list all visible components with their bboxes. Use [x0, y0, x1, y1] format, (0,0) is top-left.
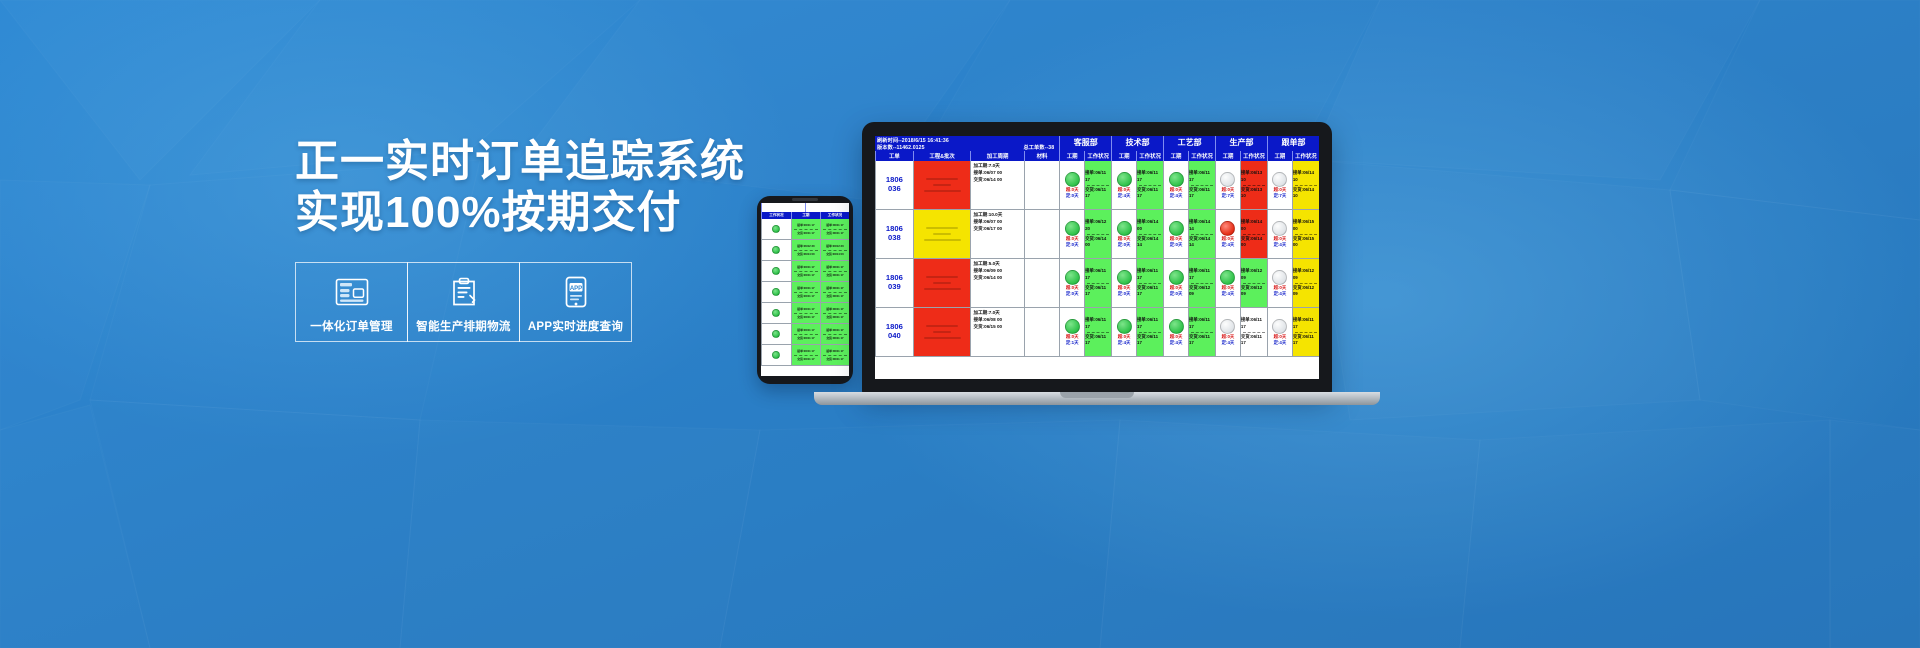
phone-table-row[interactable]: 接单:06/11 17交货:06/11 17接单:06/11 17交货:06/1… [761, 324, 849, 345]
svg-text:APP: APP [569, 286, 581, 292]
headline-line-1: 正一实时订单追踪系统 [295, 137, 745, 186]
date-separator [1243, 332, 1265, 333]
cell-dept-3-duration-status[interactable]: 超:0天定:7天 [1215, 161, 1240, 209]
phone-cell-dates-a[interactable]: 接单:06/11 17交货:06/11 17 [791, 303, 820, 323]
cell-material [1024, 308, 1060, 356]
dept-start-date: 接单:06/15 00 [1293, 219, 1319, 232]
phone-start-date: 接单:06/11 17 [797, 328, 814, 332]
feature-app-progress-query[interactable]: APP APP实时进度查询 [519, 262, 632, 342]
phone-row-list: 接单:06/11 17交货:06/11 17接单:06/11 17交货:06/1… [761, 219, 849, 366]
column-header-dept-0-1: 工作状况 [1084, 151, 1111, 161]
schedule-line: 接单:06/07 00 [973, 219, 1002, 226]
cell-material [1024, 210, 1060, 258]
dept-due-date: 交货:06/15 00 [1293, 236, 1319, 249]
table-row[interactable]: 1806040加工期:7.0天接单:06/08 00交货:06/15 00超:0… [875, 308, 1319, 357]
phone-start-date: 接单:06/12 20 [797, 244, 814, 248]
cell-processing-schedule: 加工期:7.0天接单:06/07 00交货:06/14 00 [970, 161, 1023, 209]
column-header-dept-1-1: 工作状况 [1136, 151, 1163, 161]
phone-cell-status[interactable] [761, 261, 791, 281]
cell-dept-4-work-status[interactable]: 接单:06/12 09交货:06/12 09 [1292, 259, 1319, 307]
status-indicator-grey [1272, 319, 1287, 334]
phone-start-date: 接单:06/11 17 [826, 223, 843, 227]
cell-order-number: 1806036 [875, 161, 913, 209]
cell-dept-0-work-status[interactable]: 接单:06/12 20交货:06/14 00 [1084, 210, 1111, 258]
dashboard-header: 刷新时间--2018/6/15 16:41:36 版本数--11462.0125… [875, 136, 1319, 161]
phone-due-date: 交货:06/11 17 [797, 231, 814, 235]
phone-start-date: 接单:06/11 17 [797, 349, 814, 353]
date-separator [1295, 234, 1317, 235]
phone-earpiece [792, 198, 818, 201]
feature-label: APP实时进度查询 [528, 318, 623, 334]
phone-due-date: 交货:06/11 17 [797, 273, 814, 277]
phone-cell-status[interactable] [761, 345, 791, 365]
dept-due-date: 交货:06/11 17 [1293, 334, 1319, 347]
date-separator [1295, 283, 1317, 284]
column-header-dept-3-0: 工期 [1215, 151, 1240, 161]
phone-table-row[interactable]: 接单:06/11 17交货:06/11 17接单:06/11 17交货:06/1… [761, 219, 849, 240]
dept-start-date: 接单:06/11 17 [1085, 170, 1111, 183]
column-header-dept-2-0: 工期 [1163, 151, 1188, 161]
phone-due-date: 交货:06/11 17 [826, 357, 843, 361]
date-separator [794, 334, 818, 335]
dept-start-date: 接单:06/13 10 [1241, 170, 1267, 183]
cell-order-number: 1806038 [875, 210, 913, 258]
phone-body: 客服部 技术部 工作状况 工期 工作状况 接单:06/11 17交货:06/11… [757, 196, 853, 384]
dept-due-date: 交货:06/12 09 [1293, 285, 1319, 298]
laptop-lid: 刷新时间--2018/6/15 16:41:36 版本数--11462.0125… [862, 122, 1332, 394]
date-separator [1191, 185, 1213, 186]
remaining-days-tag: 定:4天 [1170, 193, 1183, 199]
phone-screen[interactable]: 客服部 技术部 工作状况 工期 工作状况 接单:06/11 17交货:06/11… [761, 203, 849, 376]
date-separator [1295, 332, 1317, 333]
date-separator [1243, 185, 1265, 186]
dept-start-date: 接单:06/11 17 [1293, 317, 1319, 330]
remaining-days-tag: 定:4天 [1170, 340, 1183, 346]
phone-cell-dates-b[interactable]: 接单:06/11 17交货:06/11 17 [820, 324, 849, 344]
date-separator [1191, 234, 1213, 235]
column-header-row: 工单工程&批次加工周期材料工期工作状况工期工作状况工期工作状况工期工作状况工期工… [875, 151, 1319, 161]
phone-cell-dates-b[interactable]: 接单:06/11 17交货:06/11 17 [820, 261, 849, 281]
phone-cell-status[interactable] [761, 303, 791, 323]
phone-due-date: 交货:06/11 17 [797, 294, 814, 298]
phone-start-date: 接单:06/11 17 [826, 328, 843, 332]
remaining-days-tag: 定:0天 [1066, 291, 1079, 297]
phone-cell-dates-b[interactable]: 接单:06/11 17交货:06/11 17 [820, 345, 849, 365]
cell-project-batch [913, 161, 971, 209]
dept-start-date: 接单:06/11 17 [1137, 268, 1163, 281]
phone-col-0: 工作状况 [761, 212, 791, 219]
cell-dept-4-duration-status[interactable]: 超:0天定:4天 [1267, 259, 1292, 307]
table-row[interactable]: 1806038加工期:10.0天接单:06/07 00交货:06/17 00超:… [875, 210, 1319, 259]
status-indicator-green [1117, 319, 1132, 334]
remaining-days-tag: 定:0天 [1118, 242, 1131, 248]
cell-processing-schedule: 加工期:10.0天接单:06/07 00交货:06/17 00 [970, 210, 1023, 258]
dept-due-date: 交货:06/11 17 [1241, 334, 1267, 347]
phone-cell-dates-a[interactable]: 接单:06/11 17交货:06/11 17 [791, 219, 820, 239]
date-separator [823, 250, 847, 251]
feature-order-management[interactable]: 一体化订单管理 [295, 262, 408, 342]
cell-dept-2-work-status[interactable]: 接单:06/11 17交货:06/11 17 [1188, 161, 1215, 209]
column-header-base-0: 工单 [875, 151, 913, 161]
feature-list: 一体化订单管理 智能生产排期物流 APP [295, 262, 715, 342]
schedule-line: 交货:06/17 00 [973, 226, 1002, 233]
phone-due-date: 交货:06/11 17 [797, 315, 814, 319]
date-separator [1087, 234, 1109, 235]
cell-dept-0-work-status[interactable]: 接单:06/11 17交货:06/11 17 [1084, 308, 1111, 356]
dept-start-date: 接单:06/11 17 [1085, 317, 1111, 330]
phone-start-date: 接单:06/11 17 [797, 307, 814, 311]
dept-start-date: 接单:06/11 17 [1137, 170, 1163, 183]
remaining-days-tag: 定:4天 [1118, 193, 1131, 199]
column-header-dept-4-1: 工作状况 [1292, 151, 1319, 161]
phone-table-row[interactable]: 接单:06/11 17交货:06/11 17接单:06/11 17交货:06/1… [761, 345, 849, 366]
table-row[interactable]: 1806036加工期:7.0天接单:06/07 00交货:06/14 00超:0… [875, 161, 1319, 210]
order-row-list: 1806036加工期:7.0天接单:06/07 00交货:06/14 00超:0… [875, 161, 1319, 357]
dept-start-date: 接单:06/11 17 [1241, 317, 1267, 330]
phone-due-date: 交货:06/11 17 [826, 294, 843, 298]
cell-order-number: 1806040 [875, 308, 913, 356]
dept-start-date: 接单:06/12 20 [1085, 219, 1111, 232]
date-separator [794, 250, 818, 251]
phone-due-date: 交货:06/11 17 [797, 357, 814, 361]
schedule-line: 接单:06/08 00 [973, 317, 1002, 324]
phone-cell-dates-b[interactable]: 接单:06/12 20交货:06/14 00 [820, 240, 849, 260]
date-separator [1243, 234, 1265, 235]
dept-due-date: 交货:06/13 10 [1241, 187, 1267, 200]
schedule-line: 加工期:5.0天 [973, 261, 999, 268]
status-indicator-green [1065, 270, 1080, 285]
phone-mockup: 客服部 技术部 工作状况 工期 工作状况 接单:06/11 17交货:06/11… [757, 196, 853, 384]
cell-dept-3-duration-status[interactable]: 超:0天定:4天 [1215, 259, 1240, 307]
cell-dept-0-duration-status[interactable]: 超:0天定:1天 [1059, 308, 1084, 356]
dept-due-date: 交货:06/14 10 [1293, 187, 1319, 200]
remaining-days-tag: 定:0天 [1170, 242, 1183, 248]
remaining-days-tag: 定:4天 [1222, 242, 1235, 248]
cell-dept-0-work-status[interactable]: 接单:06/11 17交货:06/11 17 [1084, 259, 1111, 307]
phone-start-date: 接单:06/12 20 [826, 244, 843, 248]
phone-due-date: 交货:06/11 17 [826, 273, 843, 277]
phone-column-header: 工作状况 工期 工作状况 [761, 212, 849, 219]
column-header-dept-4-0: 工期 [1267, 151, 1292, 161]
schedule-line: 交货:06/14 00 [973, 275, 1002, 282]
date-separator [1139, 283, 1161, 284]
id-card-icon [335, 274, 369, 310]
cell-dept-3-duration-status[interactable]: 超:0天定:4天 [1215, 210, 1240, 258]
phone-cell-dates-b[interactable]: 接单:06/11 17交货:06/11 17 [820, 303, 849, 323]
dept-due-date: 交货:06/11 17 [1137, 285, 1163, 298]
remaining-days-tag: 定:4天 [1222, 291, 1235, 297]
phone-cell-dates-a[interactable]: 接单:06/11 17交货:06/11 17 [791, 324, 820, 344]
cell-dept-2-duration-status[interactable]: 超:0天定:4天 [1163, 308, 1188, 356]
phone-cell-dates-a[interactable]: 接单:06/11 17交货:06/11 17 [791, 282, 820, 302]
cell-dept-2-work-status[interactable]: 接单:06/11 17交货:06/11 17 [1188, 308, 1215, 356]
feature-label: 智能生产排期物流 [416, 318, 510, 334]
cell-dept-1-duration-status[interactable]: 超:0天定:4天 [1111, 308, 1136, 356]
cell-dept-2-duration-status[interactable]: 超:0天定:0天 [1163, 210, 1188, 258]
dept-due-date: 交货:06/11 17 [1137, 187, 1163, 200]
version-label: 版本数--11462.0125 [877, 144, 925, 151]
status-indicator-green [1117, 172, 1132, 187]
cell-dept-1-duration-status[interactable]: 超:0天定:4天 [1111, 161, 1136, 209]
cell-dept-3-work-status[interactable]: 接单:06/11 17交货:06/11 17 [1240, 308, 1267, 356]
dept-header-merchandising: 跟单部 [1267, 136, 1319, 151]
mobile-app-icon: APP [565, 274, 587, 310]
date-separator [794, 229, 818, 230]
cell-dept-3-work-status[interactable]: 接单:06/14 00交货:06/14 00 [1240, 210, 1267, 258]
cell-dept-4-work-status[interactable]: 接单:06/11 17交货:06/11 17 [1292, 308, 1319, 356]
status-indicator-green [772, 351, 780, 359]
phone-start-date: 接单:06/11 17 [797, 286, 814, 290]
column-header-dept-0-0: 工期 [1059, 151, 1084, 161]
laptop-mockup: 刷新时间--2018/6/15 16:41:36 版本数--11462.0125… [862, 122, 1332, 412]
cell-dept-1-work-status[interactable]: 接单:06/11 17交货:06/11 17 [1136, 308, 1163, 356]
cell-dept-0-duration-status[interactable]: 超:0天定:0天 [1059, 259, 1084, 307]
cell-dept-0-duration-status[interactable]: 超:0天定:0天 [1059, 161, 1084, 209]
remaining-days-tag: 定:4天 [1118, 340, 1131, 346]
laptop-screen[interactable]: 刷新时间--2018/6/15 16:41:36 版本数--11462.0125… [875, 136, 1319, 379]
cell-dept-3-work-status[interactable]: 接单:06/12 09交货:06/12 09 [1240, 259, 1267, 307]
date-separator [794, 271, 818, 272]
cell-dept-1-work-status[interactable]: 接单:06/11 17交货:06/11 17 [1136, 259, 1163, 307]
phone-cell-status[interactable] [761, 282, 791, 302]
date-separator [823, 229, 847, 230]
phone-col-2: 工作状况 [820, 212, 849, 219]
column-header-base-2: 加工周期 [970, 151, 1023, 161]
status-indicator-green [772, 288, 780, 296]
dept-due-date: 交货:06/11 17 [1189, 187, 1215, 200]
phone-start-date: 接单:06/11 17 [797, 223, 814, 227]
date-separator [1295, 185, 1317, 186]
dept-start-date: 接单:06/11 17 [1137, 317, 1163, 330]
date-separator [823, 334, 847, 335]
phone-due-date: 交货:06/14 00 [826, 252, 843, 256]
date-separator [823, 313, 847, 314]
dept-due-date: 交货:06/11 17 [1085, 334, 1111, 347]
cell-material [1024, 161, 1060, 209]
dept-start-date: 接单:06/11 17 [1085, 268, 1111, 281]
status-indicator-green [1065, 221, 1080, 236]
dept-due-date: 交货:06/14 00 [1241, 236, 1267, 249]
remaining-days-tag: 定:0天 [1170, 291, 1183, 297]
dept-header-technology: 技术部 [1111, 136, 1163, 151]
schedule-line: 加工期:7.0天 [973, 163, 999, 170]
cell-dept-3-work-status[interactable]: 接单:06/13 10交货:06/13 10 [1240, 161, 1267, 209]
dept-due-date: 交货:06/11 17 [1137, 334, 1163, 347]
date-separator [1243, 283, 1265, 284]
dept-start-date: 接单:06/14 00 [1137, 219, 1163, 232]
status-indicator-green [1117, 221, 1132, 236]
feature-label: 一体化订单管理 [310, 318, 393, 334]
phone-dept-1: 技术部 [805, 203, 849, 212]
status-indicator-green [1065, 319, 1080, 334]
dept-due-date: 交货:06/14 00 [1085, 236, 1111, 249]
dept-header-process: 工艺部 [1163, 136, 1215, 151]
dept-start-date: 接单:06/12 09 [1293, 268, 1319, 281]
schedule-line: 交货:06/14 00 [973, 177, 1002, 184]
date-separator [823, 292, 847, 293]
cell-material [1024, 259, 1060, 307]
phone-cell-status[interactable] [761, 240, 791, 260]
remaining-days-tag: 定:0天 [1066, 242, 1079, 248]
feature-production-logistics[interactable]: 智能生产排期物流 [407, 262, 520, 342]
hero-block: 正一实时订单追踪系统 实现100%按期交付 一体化订单管理 [295, 136, 715, 342]
remaining-days-tag: 定:0天 [1066, 193, 1079, 199]
phone-start-date: 接单:06/11 17 [826, 265, 843, 269]
phone-due-date: 交货:06/11 17 [826, 315, 843, 319]
status-indicator-green [772, 246, 780, 254]
cell-dept-2-duration-status[interactable]: 超:0天定:4天 [1163, 161, 1188, 209]
dept-due-date: 交货:06/11 17 [1085, 187, 1111, 200]
remaining-days-tag: 定:7天 [1222, 193, 1235, 199]
phone-cell-dates-b[interactable]: 接单:06/11 17交货:06/11 17 [820, 282, 849, 302]
laptop-trackpad-notch [1060, 392, 1134, 398]
phone-cell-dates-a[interactable]: 接单:06/11 17交货:06/11 17 [791, 345, 820, 365]
cell-project-batch [913, 308, 971, 356]
cell-processing-schedule: 加工期:7.0天接单:06/08 00交货:06/15 00 [970, 308, 1023, 356]
cell-processing-schedule: 加工期:5.0天接单:06/09 00交货:06/14 00 [970, 259, 1023, 307]
remaining-days-tag: 定:4天 [1274, 340, 1287, 346]
status-indicator-green [772, 330, 780, 338]
dept-start-date: 接单:06/11 17 [1189, 317, 1215, 330]
phone-cell-dates-a[interactable]: 接单:06/12 20交货:06/14 00 [791, 240, 820, 260]
phone-department-header: 客服部 技术部 [761, 203, 849, 212]
cell-dept-4-duration-status[interactable]: 超:0天定:4天 [1267, 308, 1292, 356]
table-row[interactable]: 1806039加工期:5.0天接单:06/09 00交货:06/14 00超:0… [875, 259, 1319, 308]
refresh-time-label: 刷新时间--2018/6/15 16:41:36 [877, 137, 1057, 144]
cell-project-batch [913, 259, 971, 307]
cell-dept-4-work-status[interactable]: 接单:06/15 00交货:06/15 00 [1292, 210, 1319, 258]
schedule-line: 加工期:7.0天 [973, 310, 999, 317]
remaining-days-tag: 定:4天 [1274, 291, 1287, 297]
phone-cell-dates-a[interactable]: 接单:06/11 17交货:06/11 17 [791, 261, 820, 281]
phone-cell-status[interactable] [761, 324, 791, 344]
phone-cell-status[interactable] [761, 219, 791, 239]
dept-start-date: 接单:06/14 14 [1189, 219, 1215, 232]
column-header-dept-1-0: 工期 [1111, 151, 1136, 161]
phone-col-1: 工期 [791, 212, 820, 219]
cell-dept-1-duration-status[interactable]: 超:0天定:0天 [1111, 259, 1136, 307]
status-indicator-grey [1220, 319, 1235, 334]
remaining-days-tag: 定:4天 [1274, 242, 1287, 248]
total-orders-label: 总工单数--38 [1023, 144, 1054, 151]
phone-due-date: 交货:06/11 17 [826, 336, 843, 340]
dept-header-production: 生产部 [1215, 136, 1267, 151]
date-separator [1087, 185, 1109, 186]
page-title: 正一实时订单追踪系统 实现100%按期交付 [295, 136, 715, 238]
phone-start-date: 接单:06/11 17 [826, 349, 843, 353]
phone-start-date: 接单:06/11 17 [826, 286, 843, 290]
cell-project-batch [913, 210, 971, 258]
cell-dept-0-work-status[interactable]: 接单:06/11 17交货:06/11 17 [1084, 161, 1111, 209]
dept-start-date: 接单:06/14 10 [1293, 170, 1319, 183]
order-tracking-dashboard: 刷新时间--2018/6/15 16:41:36 版本数--11462.0125… [875, 136, 1319, 379]
date-separator [1139, 234, 1161, 235]
phone-due-date: 交货:06/11 17 [797, 336, 814, 340]
phone-table-row[interactable]: 接单:06/11 17交货:06/11 17接单:06/11 17交货:06/1… [761, 303, 849, 324]
phone-due-date: 交货:06/14 00 [797, 252, 814, 256]
date-separator [794, 292, 818, 293]
date-separator [1191, 283, 1213, 284]
date-separator [1139, 185, 1161, 186]
remaining-days-tag: 定:4天 [1222, 340, 1235, 346]
cell-dept-1-work-status[interactable]: 接单:06/14 00交货:06/14 14 [1136, 210, 1163, 258]
status-indicator-green [1169, 319, 1184, 334]
cell-dept-4-duration-status[interactable]: 超:0天定:7天 [1267, 161, 1292, 209]
status-indicator-green [772, 309, 780, 317]
remaining-days-tag: 定:1天 [1066, 340, 1079, 346]
status-indicator-grey [1272, 221, 1287, 236]
status-indicator-green [1169, 270, 1184, 285]
column-header-base-3: 材料 [1024, 151, 1060, 161]
dept-due-date: 交货:06/11 17 [1189, 334, 1215, 347]
cell-dept-4-duration-status[interactable]: 超:0天定:4天 [1267, 210, 1292, 258]
phone-start-date: 接单:06/11 17 [797, 265, 814, 269]
schedule-line: 接单:06/09 00 [973, 268, 1002, 275]
cell-order-number: 1806039 [875, 259, 913, 307]
phone-dashboard: 客服部 技术部 工作状况 工期 工作状况 接单:06/11 17交货:06/11… [761, 203, 849, 376]
cell-dept-2-work-status[interactable]: 接单:06/11 17交货:06/12 09 [1188, 259, 1215, 307]
status-indicator-green [1117, 270, 1132, 285]
cell-dept-3-duration-status[interactable]: 超:0天定:4天 [1215, 308, 1240, 356]
status-indicator-green [1169, 221, 1184, 236]
dept-due-date: 交货:06/14 14 [1189, 236, 1215, 249]
phone-table-row[interactable]: 接单:06/12 20交货:06/14 00接单:06/12 20交货:06/1… [761, 240, 849, 261]
phone-table-row[interactable]: 接单:06/11 17交货:06/11 17接单:06/11 17交货:06/1… [761, 282, 849, 303]
status-indicator-green [772, 225, 780, 233]
column-header-dept-3-1: 工作状况 [1240, 151, 1267, 161]
cell-dept-1-work-status[interactable]: 接单:06/11 17交货:06/11 17 [1136, 161, 1163, 209]
phone-start-date: 接单:06/11 17 [826, 307, 843, 311]
dept-due-date: 交货:06/12 09 [1241, 285, 1267, 298]
dept-start-date: 接单:06/11 17 [1189, 170, 1215, 183]
column-header-base-1: 工程&批次 [913, 151, 971, 161]
status-indicator-red [1220, 221, 1235, 236]
cell-dept-1-duration-status[interactable]: 超:0天定:0天 [1111, 210, 1136, 258]
dept-due-date: 交货:06/11 17 [1085, 285, 1111, 298]
clipboard-icon [449, 274, 479, 310]
date-separator [1087, 283, 1109, 284]
status-indicator-grey [1220, 172, 1235, 187]
cell-dept-0-duration-status[interactable]: 超:0天定:0天 [1059, 210, 1084, 258]
phone-table-row[interactable]: 接单:06/11 17交货:06/11 17接单:06/11 17交货:06/1… [761, 261, 849, 282]
phone-dept-0: 客服部 [761, 203, 805, 212]
date-separator [1191, 332, 1213, 333]
cell-dept-2-work-status[interactable]: 接单:06/14 14交货:06/14 14 [1188, 210, 1215, 258]
date-separator [794, 355, 818, 356]
headline-line-2: 实现100%按期交付 [295, 187, 715, 238]
status-indicator-grey [1272, 172, 1287, 187]
schedule-line: 接单:06/07 00 [973, 170, 1002, 177]
status-indicator-green [772, 267, 780, 275]
phone-cell-dates-b[interactable]: 接单:06/11 17交货:06/11 17 [820, 219, 849, 239]
dept-due-date: 交货:06/12 09 [1189, 285, 1215, 298]
phone-due-date: 交货:06/11 17 [826, 231, 843, 235]
status-indicator-green [1065, 172, 1080, 187]
date-separator [823, 271, 847, 272]
schedule-line: 交货:06/15 00 [973, 324, 1002, 331]
remaining-days-tag: 定:7天 [1274, 193, 1287, 199]
status-indicator-green [1169, 172, 1184, 187]
status-indicator-grey [1272, 270, 1287, 285]
date-separator [1139, 332, 1161, 333]
dept-due-date: 交货:06/14 14 [1137, 236, 1163, 249]
date-separator [1087, 332, 1109, 333]
cell-dept-2-duration-status[interactable]: 超:0天定:0天 [1163, 259, 1188, 307]
column-header-dept-2-1: 工作状况 [1188, 151, 1215, 161]
cell-dept-4-work-status[interactable]: 接单:06/14 10交货:06/14 10 [1292, 161, 1319, 209]
date-separator [794, 313, 818, 314]
dept-start-date: 接单:06/14 00 [1241, 219, 1267, 232]
